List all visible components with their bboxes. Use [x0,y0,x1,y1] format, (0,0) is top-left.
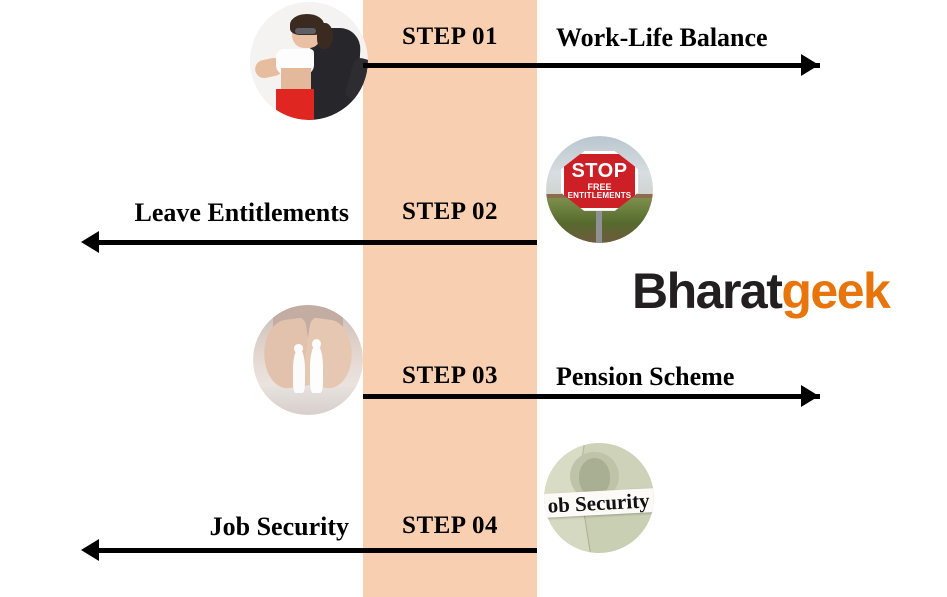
step-label-04: STEP 04 [363,512,537,540]
brand-logo: Bharatgeek [632,262,889,320]
stop-sign-line-3: ENTITLEMENTS [568,192,632,200]
outcome-label-01: Work-Life Balance [556,23,768,53]
outcome-label-02: Leave Entitlements [135,198,349,228]
arrow-head-left-04 [81,539,99,561]
arrow-line-01 [363,63,820,68]
pension-scheme-photo [253,305,363,415]
leave-entitlements-photo: STOP FREE ENTITLEMENTS [546,136,653,243]
step-label-02: STEP 02 [363,198,537,226]
arrow-head-right-01 [801,54,819,76]
job-security-photo: ob Security [544,443,654,553]
center-band [363,0,537,597]
outcome-label-03: Pension Scheme [556,362,734,392]
arrow-head-left-02 [81,231,99,253]
infographic-canvas: STEP 01 Work-Life Balance STOP FREE ENTI… [0,0,947,597]
outcome-label-04: Job Security [210,512,349,542]
arrow-line-02 [98,240,537,245]
logo-accent-text: geek [781,263,889,319]
step-label-03: STEP 03 [363,362,537,390]
arrow-head-right-03 [801,385,819,407]
arrow-line-04 [98,548,537,553]
logo-primary-text: Bharat [632,263,781,319]
step-label-01: STEP 01 [363,23,537,51]
stop-sign-line-1: STOP [571,161,627,182]
work-life-balance-photo [250,2,368,120]
arrow-line-03 [363,394,820,399]
